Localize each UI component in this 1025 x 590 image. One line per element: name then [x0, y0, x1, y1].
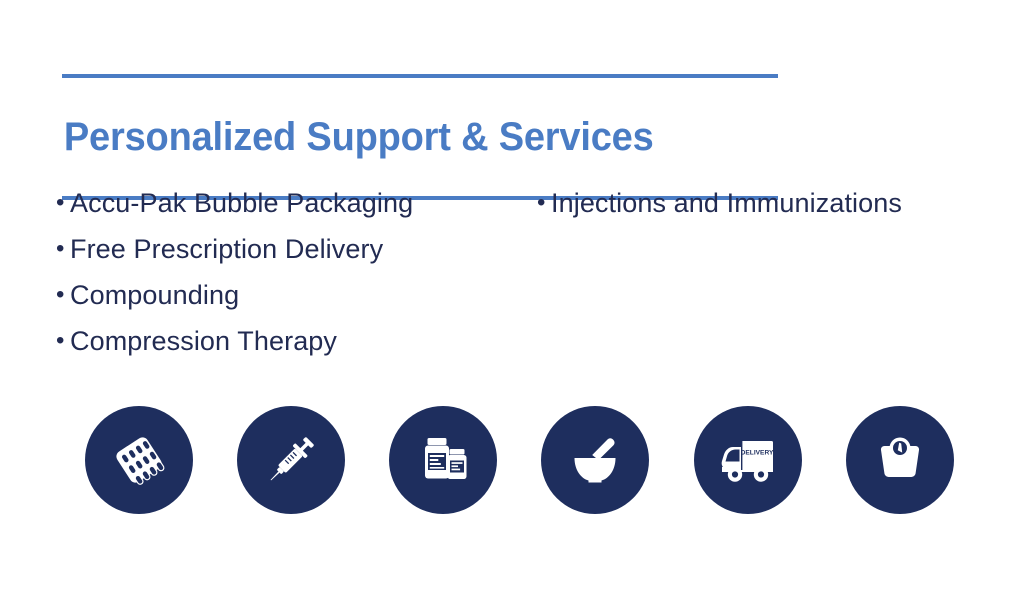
list-item: • Injections and Immunizations — [529, 180, 1025, 226]
services-column-right: • Injections and Immunizations — [529, 180, 1025, 226]
icon-badge-mortar-pestle — [541, 406, 649, 514]
bullet-icon: • — [48, 226, 70, 272]
syringe-icon — [259, 428, 323, 492]
pill-bottles-icon — [411, 428, 475, 492]
bullet-icon: • — [48, 180, 70, 226]
page-title: Personalized Support & Services — [62, 105, 742, 169]
list-item: • Compression Therapy — [48, 318, 528, 364]
bullet-icon: • — [48, 318, 70, 364]
mortar-pestle-icon — [563, 428, 627, 492]
blister-pack-icon — [107, 428, 171, 492]
list-item: • Accu-Pak Bubble Packaging — [48, 180, 528, 226]
icon-badge-syringe — [237, 406, 345, 514]
service-label: Accu-Pak Bubble Packaging — [70, 180, 413, 226]
delivery-truck-icon: DELIVERY — [713, 425, 783, 495]
slide-canvas: Personalized Support & Services • Accu-P… — [0, 0, 1025, 590]
service-icon-row: DELIVERY — [0, 406, 1025, 516]
services-column-left: • Accu-Pak Bubble Packaging • Free Presc… — [48, 180, 528, 364]
icon-badge-pill-bottles — [389, 406, 497, 514]
service-label: Free Prescription Delivery — [70, 226, 383, 272]
service-label: Compounding — [70, 272, 239, 318]
icon-badge-weight-scale — [846, 406, 954, 514]
icon-badge-delivery-truck: DELIVERY — [694, 406, 802, 514]
service-label: Injections and Immunizations — [551, 180, 902, 226]
list-item: • Compounding — [48, 272, 528, 318]
bullet-icon: • — [529, 180, 551, 226]
icon-badge-blister-pack — [85, 406, 193, 514]
services-list: • Accu-Pak Bubble Packaging • Free Presc… — [0, 180, 1025, 366]
truck-delivery-label: DELIVERY — [741, 450, 774, 457]
bullet-icon: • — [48, 272, 70, 318]
service-label: Compression Therapy — [70, 318, 337, 364]
title-rule-top — [62, 74, 778, 78]
weight-scale-icon — [868, 428, 932, 492]
list-item: • Free Prescription Delivery — [48, 226, 528, 272]
